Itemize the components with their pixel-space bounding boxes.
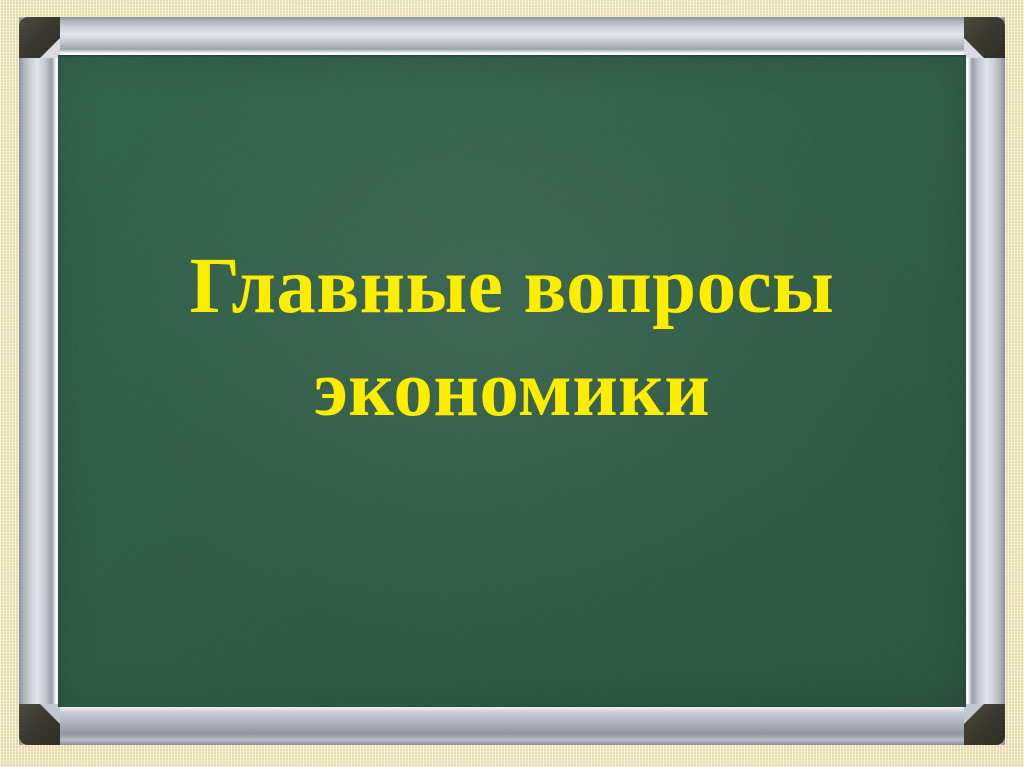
slide-title-line-2: экономики xyxy=(58,338,966,441)
corner-cap-top-left xyxy=(19,17,60,58)
frame-rail-left xyxy=(19,17,60,745)
corner-cap-bottom-right xyxy=(964,704,1005,745)
chalkboard: Главные вопросы экономики xyxy=(19,17,1005,745)
chalkboard-surface: Главные вопросы экономики xyxy=(58,55,966,707)
corner-cap-bottom-left xyxy=(19,704,60,745)
corner-cap-top-right xyxy=(964,17,1005,58)
frame-rail-top xyxy=(19,17,1005,57)
slide-title: Главные вопросы экономики xyxy=(58,235,966,441)
frame-rail-bottom xyxy=(19,703,1005,745)
frame-rail-right xyxy=(964,17,1005,745)
presentation-slide: Главные вопросы экономики xyxy=(0,0,1024,767)
slide-title-line-1: Главные вопросы xyxy=(58,235,966,338)
